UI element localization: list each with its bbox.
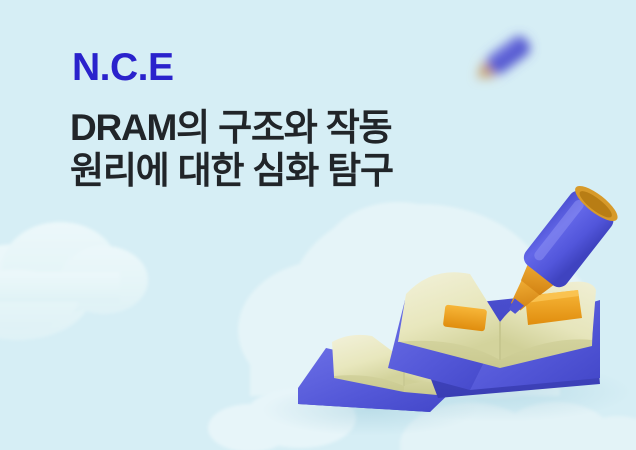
brand-logo-text: N.C.E [72,48,174,87]
thumbnail-card: N.C.E DRAM의 구조와 작동 원리에 대한 심화 탐구 [0,0,636,450]
page-title: DRAM의 구조와 작동 원리에 대한 심화 탐구 [70,106,490,193]
text-layer: N.C.E DRAM의 구조와 작동 원리에 대한 심화 탐구 [0,0,636,450]
